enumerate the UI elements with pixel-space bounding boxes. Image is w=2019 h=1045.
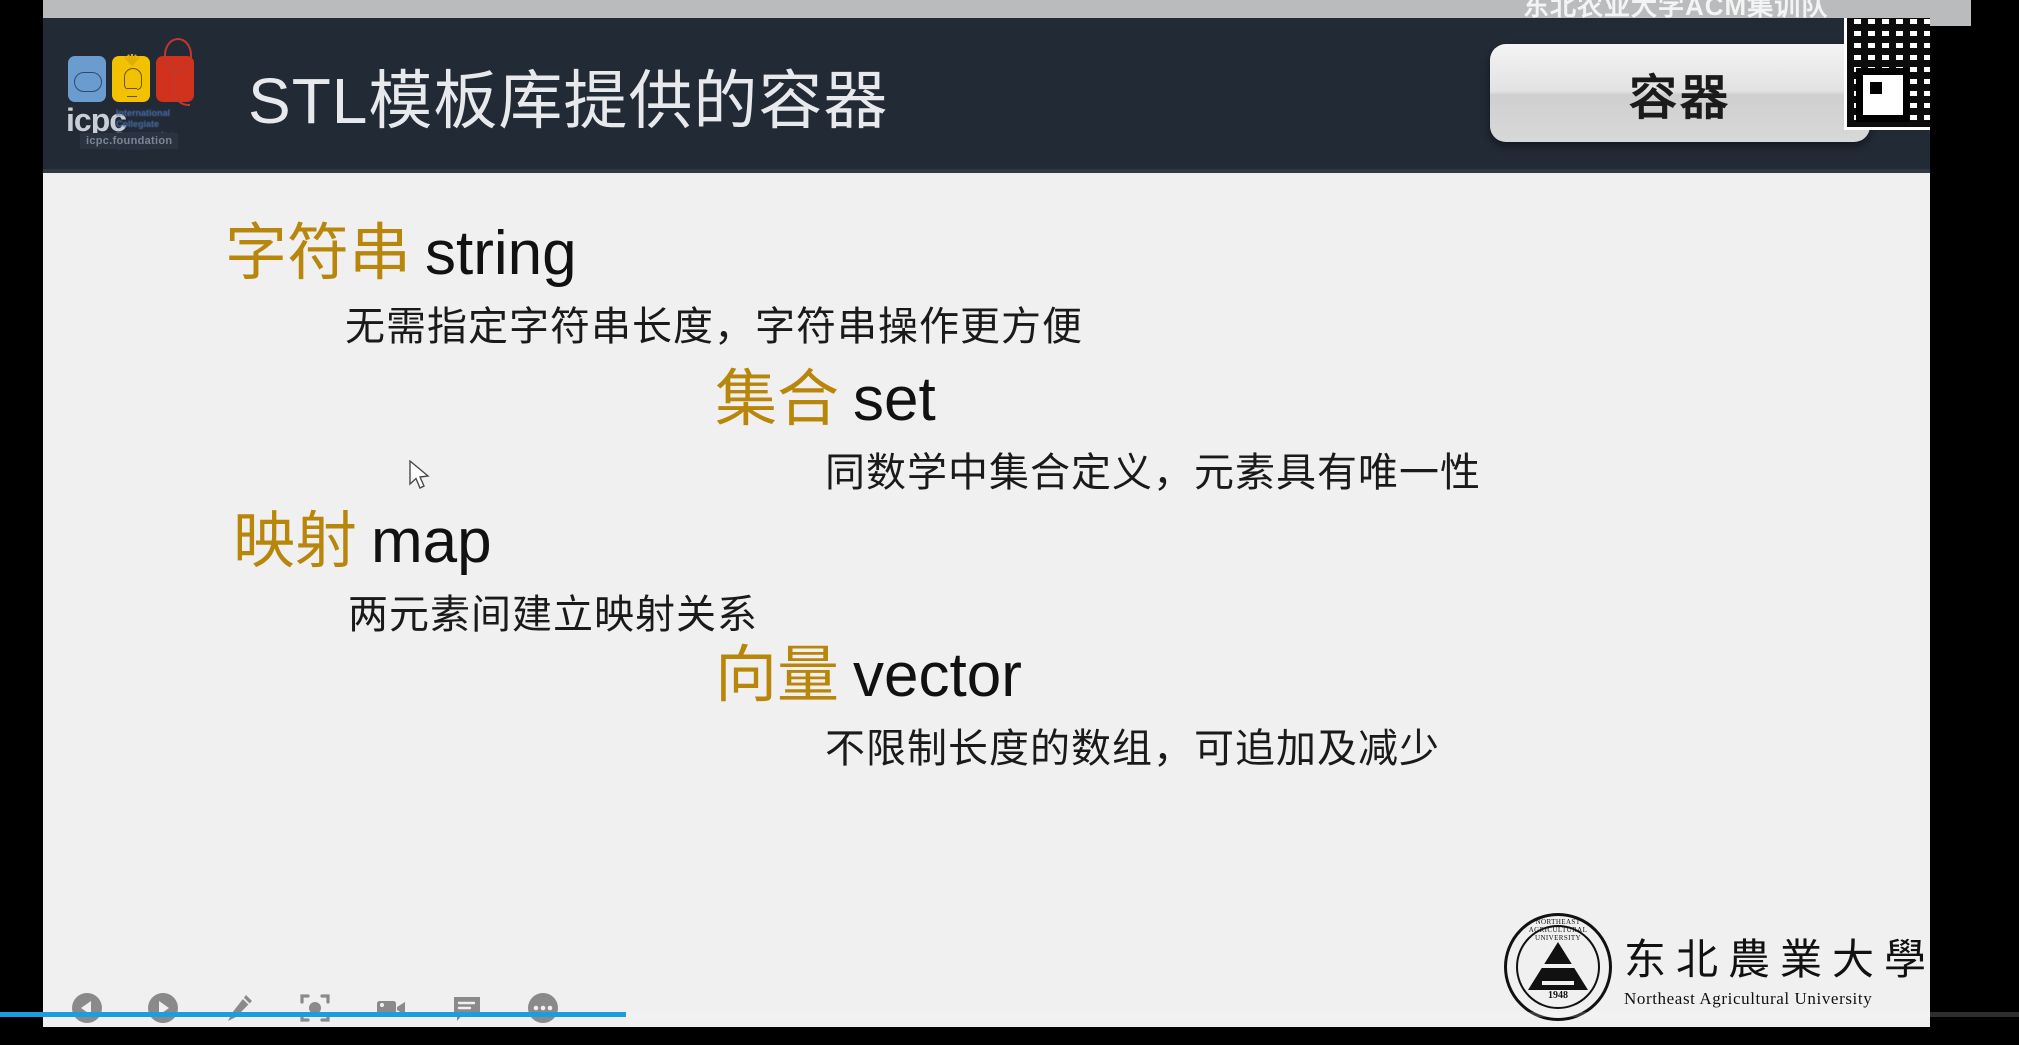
player-controls [68,989,562,1027]
entry-map: 映射map 两元素间建立映射关系 [233,511,758,635]
entry-string-cn: 字符串 [225,219,411,288]
playback-progress-fill [0,1012,626,1017]
entry-vector-en: vector [839,641,1022,710]
entry-string-en: string [411,219,577,288]
entry-string-heading: 字符串string [225,223,1083,285]
cloud-icon [74,72,102,92]
icpc-logo: icpc International Collegiate Programmin… [58,28,208,156]
player-control-bar [0,959,2019,1045]
ellipsis-icon [526,991,560,1025]
playback-progress-track[interactable] [0,1012,2019,1017]
entry-set-heading: 集合set [715,369,1481,431]
screenshot-icon [298,991,332,1025]
qr-code [1844,18,1930,130]
balloon-string-icon [174,68,190,106]
next-slide-button[interactable] [144,989,182,1027]
play-next-icon [146,991,180,1025]
presentation-slide: icpc International Collegiate Programmin… [43,18,1930,1027]
entry-vector: 向量vector 不限制长度的数组，可追加及减少 [715,645,1440,769]
icpc-foundation-badge: icpc.foundation [80,133,178,149]
entry-vector-cn: 向量 [715,641,839,710]
entry-string: 字符串string 无需指定字符串长度，字符串操作更方便 [225,223,1083,347]
entry-string-description: 无需指定字符串长度，字符串操作更方便 [225,285,1083,347]
entry-map-cn: 映射 [233,507,357,576]
qr-code-finder [1856,68,1910,122]
lightbulb-base-icon [127,88,137,97]
annotate-button[interactable] [220,989,258,1027]
balloon-icon [164,38,192,72]
entry-map-description: 两元素间建立映射关系 [233,573,758,635]
entry-set-description: 同数学中集合定义，元素具有唯一性 [715,431,1481,493]
section-chip-label: 容器 [1629,58,1731,128]
university-seal-ring-text: NORTHEAST AGRICULTURAL UNIVERSITY [1507,918,1609,942]
slide-title: STL模板库提供的容器 [248,50,888,142]
record-button[interactable] [372,989,410,1027]
entry-set-en: set [839,365,936,434]
entry-map-en: map [357,507,492,576]
entry-vector-description: 不限制长度的数组，可追加及减少 [715,707,1440,769]
screenshot-button[interactable] [296,989,334,1027]
slide-body: 字符串string 无需指定字符串长度，字符串操作更方便 集合set 同数学中集… [43,173,1930,1027]
video-camera-icon [374,991,408,1025]
chat-button[interactable] [448,989,486,1027]
comment-icon [450,991,484,1025]
entry-set-cn: 集合 [715,365,839,434]
more-button[interactable] [524,989,562,1027]
section-chip[interactable]: 容器 [1490,44,1870,142]
entry-map-heading: 映射map [233,511,758,573]
lightbulb-icon [124,68,142,90]
previous-slide-button[interactable] [68,989,106,1027]
icpc-logo-tiles [68,56,198,104]
slide-header: icpc International Collegiate Programmin… [43,18,1930,173]
video-player-stage: 东北农业大学ACM集训队 [0,0,2019,1045]
previous-icon [70,991,104,1025]
entry-set: 集合set 同数学中集合定义，元素具有唯一性 [715,369,1481,493]
pencil-icon [222,991,256,1025]
entry-vector-heading: 向量vector [715,645,1440,707]
